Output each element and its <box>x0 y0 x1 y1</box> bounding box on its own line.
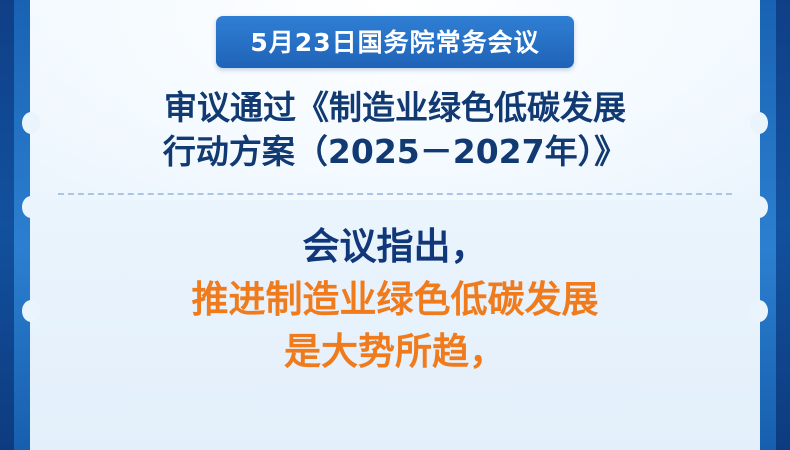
body-line-1: 会议指出， <box>46 221 744 274</box>
left-notch-3 <box>22 300 40 322</box>
right-edge-band <box>760 0 790 450</box>
body-text-block: 会议指出， 推进制造业绿色低碳发展 是大势所趋， <box>46 221 744 379</box>
meeting-date-badge: 5月23日国务院常务会议 <box>216 16 573 68</box>
body-line-2: 推进制造业绿色低碳发展 <box>46 274 744 327</box>
body-line-3: 是大势所趋， <box>46 326 744 379</box>
left-edge-band <box>0 0 30 450</box>
left-edge-inner-band <box>14 0 30 450</box>
left-notch-1 <box>22 112 40 134</box>
poster-canvas: 5月23日国务院常务会议 审议通过《制造业绿色低碳发展 行动方案（2025－20… <box>0 0 790 450</box>
left-notch-2 <box>22 196 40 218</box>
right-notch-2 <box>750 196 768 218</box>
badge-row: 5月23日国务院常务会议 <box>46 16 744 68</box>
poster-content: 5月23日国务院常务会议 审议通过《制造业绿色低碳发展 行动方案（2025－20… <box>46 0 744 450</box>
headline-line-2: 行动方案（2025－2027年）》 <box>46 130 744 174</box>
dashed-divider <box>58 193 732 195</box>
right-notch-1 <box>750 112 768 134</box>
right-edge-inner-band <box>760 0 776 450</box>
headline-line-1: 审议通过《制造业绿色低碳发展 <box>46 86 744 130</box>
page-title: 审议通过《制造业绿色低碳发展 行动方案（2025－2027年）》 <box>46 86 744 173</box>
right-notch-3 <box>750 300 768 322</box>
